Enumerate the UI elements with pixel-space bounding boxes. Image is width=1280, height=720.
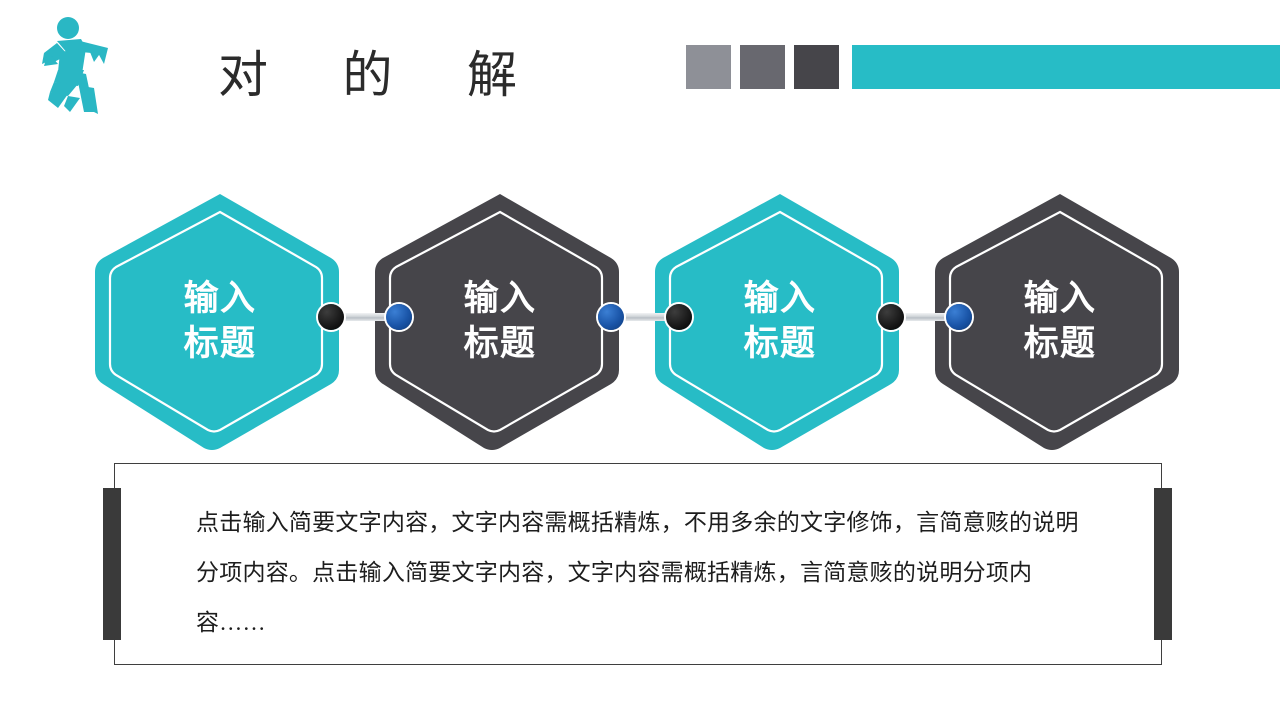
connector-dot-dark bbox=[878, 304, 904, 330]
running-person-icon bbox=[24, 12, 118, 116]
connector-3 bbox=[878, 304, 972, 330]
textbox-accent-bar-left bbox=[103, 488, 121, 640]
hexagon-item-2[interactable]: 输入 标题 bbox=[375, 190, 625, 452]
hexagon-item-4[interactable]: 输入 标题 bbox=[935, 190, 1185, 452]
connector-dot-dark bbox=[318, 304, 344, 330]
header-block-2 bbox=[740, 45, 785, 89]
textbox-accent-bar-right bbox=[1154, 488, 1172, 640]
hexagon-item-3[interactable]: 输入 标题 bbox=[655, 190, 905, 452]
header-accent-bar bbox=[852, 45, 1280, 89]
connector-dot-dark bbox=[666, 304, 692, 330]
connector-dot-blue bbox=[386, 304, 412, 330]
slide-canvas: 对 的 解 输入 标题 输入 标题 bbox=[0, 0, 1280, 720]
page-title: 对 的 解 bbox=[218, 36, 548, 106]
header-block-1 bbox=[686, 45, 731, 89]
connector-1 bbox=[318, 304, 412, 330]
connector-dot-blue bbox=[598, 304, 624, 330]
connector-2 bbox=[598, 304, 692, 330]
header-block-3 bbox=[794, 45, 839, 89]
connector-dot-blue bbox=[946, 304, 972, 330]
description-paragraph: 点击输入简要文字内容，文字内容需概括精炼，不用多余的文字修饰，言简意赅的说明分项… bbox=[196, 498, 1096, 648]
header-block-group bbox=[686, 45, 839, 89]
hexagon-item-1[interactable]: 输入 标题 bbox=[95, 190, 345, 452]
